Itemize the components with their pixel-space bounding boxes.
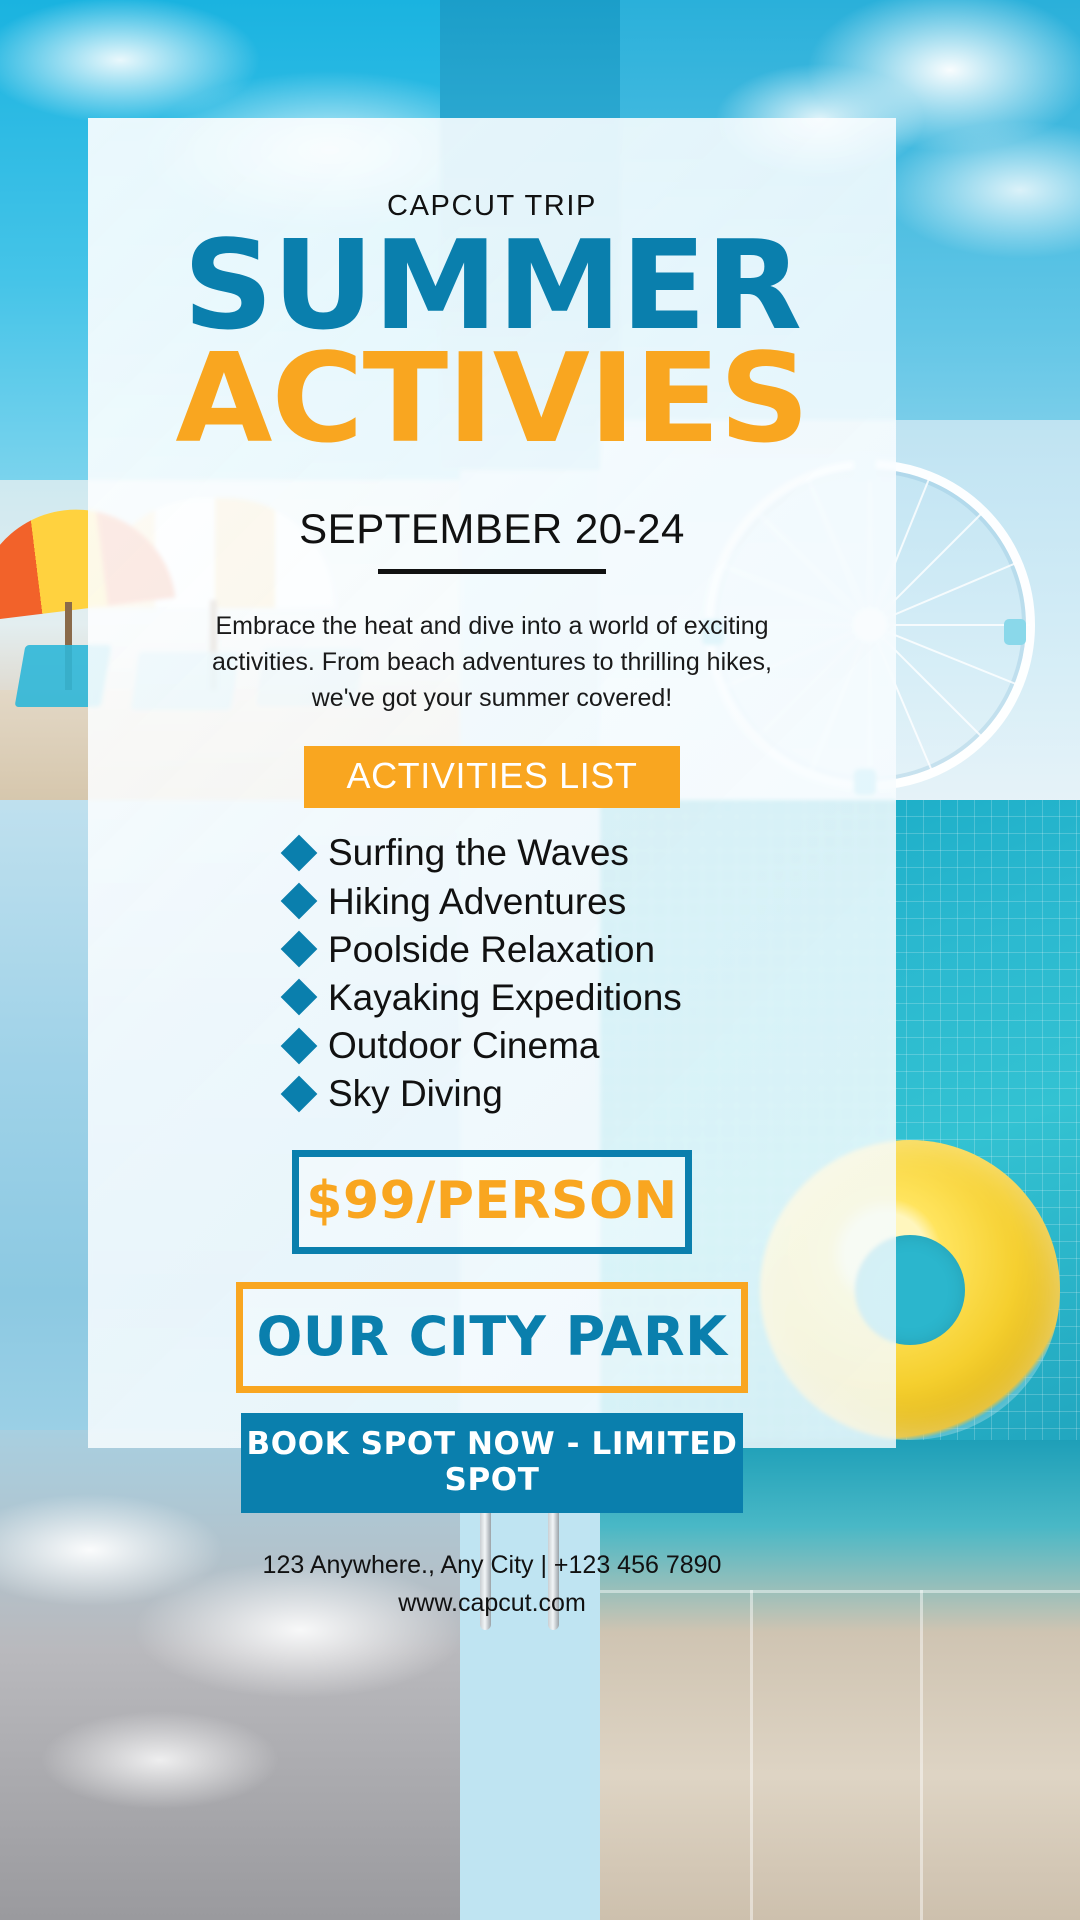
diamond-bullet-icon: [281, 931, 318, 968]
footer-address: 123 Anywhere., Any City | +123 456 7890: [88, 1547, 896, 1585]
list-item: Outdoor Cinema: [286, 1023, 722, 1068]
list-item: Sky Diving: [286, 1071, 722, 1116]
list-item-label: Outdoor Cinema: [328, 1023, 599, 1068]
list-item-label: Surfing the Waves: [328, 830, 629, 875]
list-item: Surfing the Waves: [286, 830, 722, 875]
book-spot-button[interactable]: BOOK SPOT NOW - LIMITED SPOT: [241, 1413, 743, 1513]
list-item-label: Kayaking Expeditions: [328, 975, 682, 1020]
description-text: Embrace the heat and dive into a world o…: [202, 608, 782, 717]
price-text: $99/PERSON: [299, 1171, 685, 1231]
page-title-line2: ACTIVIES: [80, 341, 904, 459]
event-date: SEPTEMBER 20-24: [88, 505, 896, 553]
diamond-bullet-icon: [281, 1075, 318, 1112]
diamond-bullet-icon: [281, 835, 318, 872]
diamond-bullet-icon: [281, 979, 318, 1016]
list-item: Kayaking Expeditions: [286, 975, 722, 1020]
ferris-cabin: [1004, 619, 1026, 645]
activities-list: Surfing the Waves Hiking Adventures Pool…: [262, 830, 722, 1116]
list-item: Hiking Adventures: [286, 879, 722, 924]
footer-website[interactable]: www.capcut.com: [88, 1585, 896, 1623]
footer-contact: 123 Anywhere., Any City | +123 456 7890 …: [88, 1547, 896, 1622]
price-box: $99/PERSON: [292, 1150, 692, 1254]
venue-box: OUR CITY PARK: [236, 1282, 748, 1393]
date-divider: [378, 569, 606, 574]
list-item: Poolside Relaxation: [286, 927, 722, 972]
venue-text: OUR CITY PARK: [243, 1305, 741, 1368]
diamond-bullet-icon: [281, 1027, 318, 1064]
list-item-label: Sky Diving: [328, 1071, 503, 1116]
diamond-bullet-icon: [281, 883, 318, 920]
list-item-label: Poolside Relaxation: [328, 927, 655, 972]
list-item-label: Hiking Adventures: [328, 879, 626, 924]
activities-list-banner: ACTIVITIES LIST: [304, 746, 679, 808]
poster-card: CAPCUT TRIP SUMMER ACTIVIES SEPTEMBER 20…: [88, 118, 896, 1448]
